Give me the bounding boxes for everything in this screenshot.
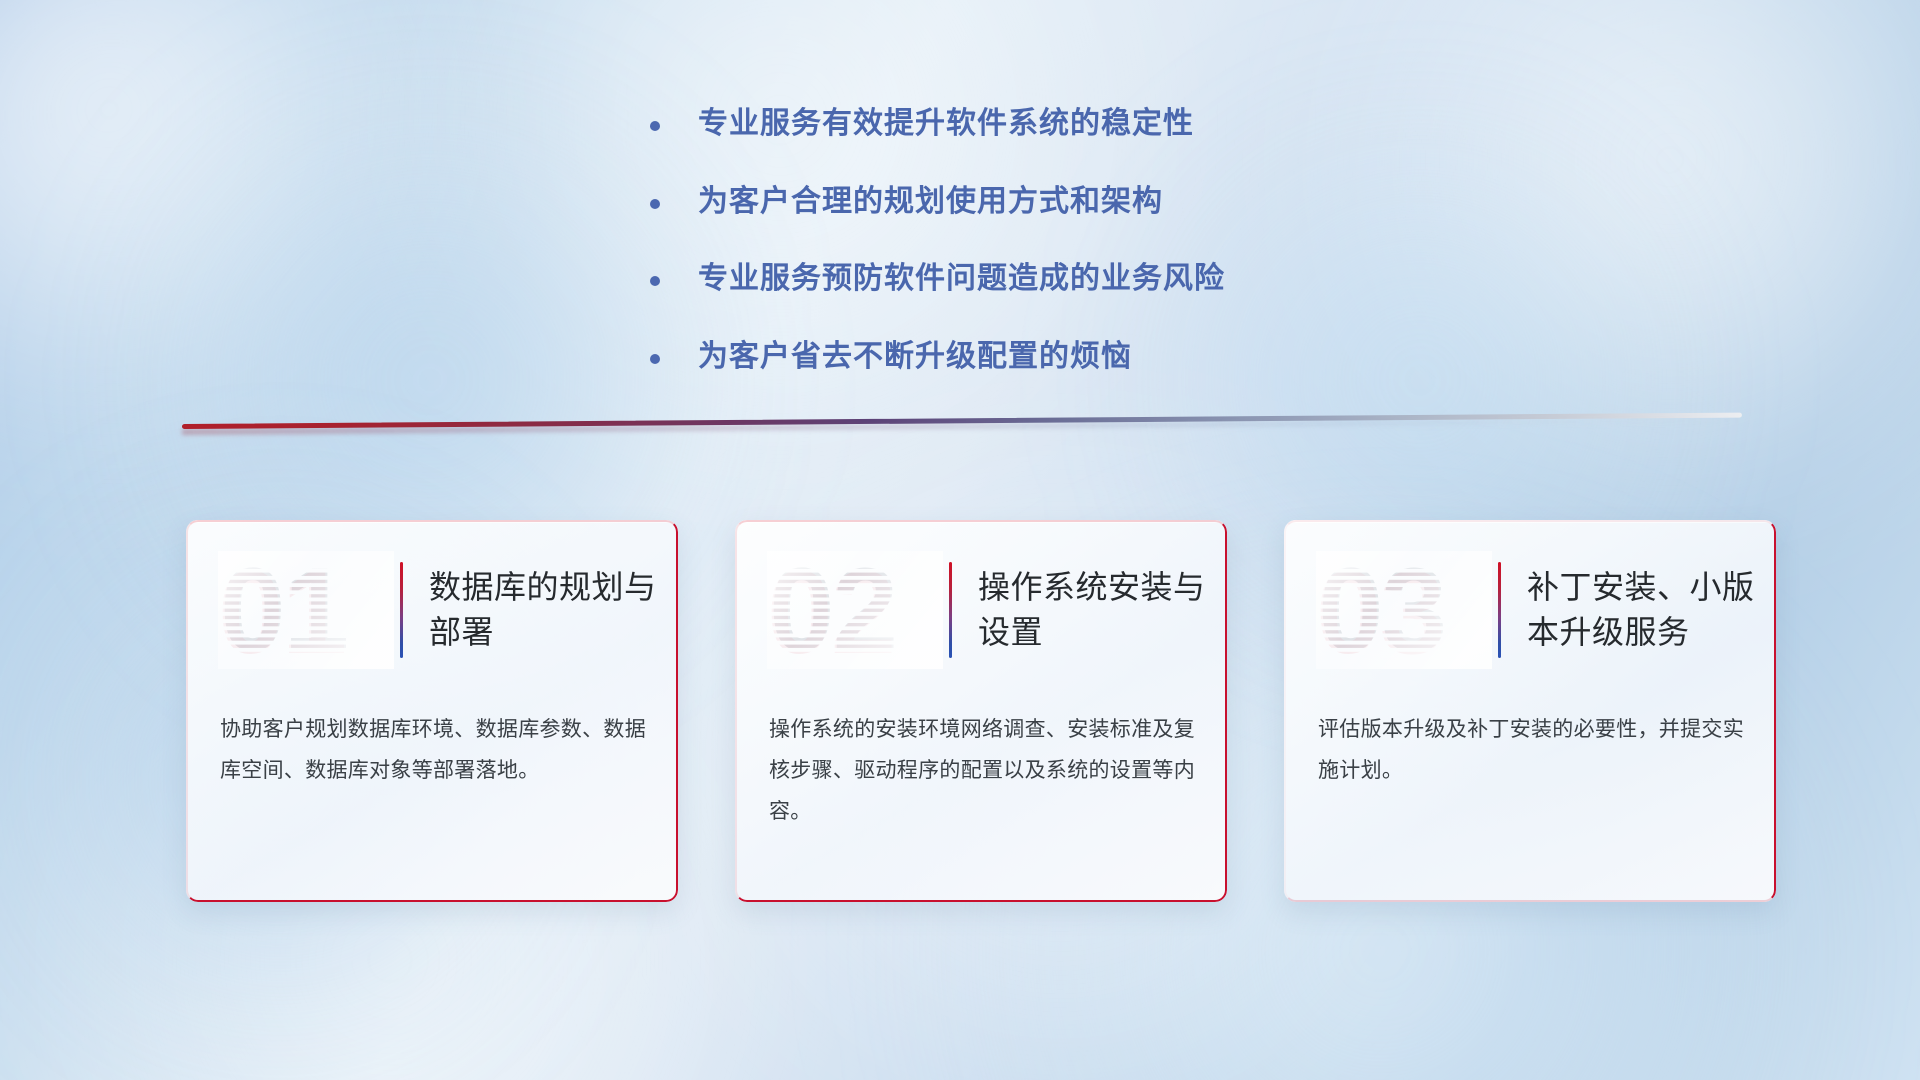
card-header: 01 01 数据库的规划与部署 [186, 544, 678, 676]
list-item: 专业服务预防软件问题造成的业务风险 [650, 260, 1470, 298]
list-item: 为客户合理的规划使用方式和架构 [650, 183, 1470, 221]
card-title: 补丁安装、小版本升级服务 [1527, 565, 1759, 656]
bullet-text: 专业服务有效提升软件系统的稳定性 [698, 105, 1194, 143]
card-number-ghost: 02 02 [767, 551, 943, 669]
bullet-text: 专业服务预防软件问题造成的业务风险 [698, 260, 1225, 298]
card-row: 01 01 数据库的规划与部署 协助客户规划数据库环境、数据库参数、数据库空间、… [186, 520, 1776, 902]
bullet-dot-icon [650, 199, 660, 209]
card-header: 03 03 补丁安装、小版本升级服务 [1284, 544, 1776, 676]
list-item: 专业服务有效提升软件系统的稳定性 [650, 105, 1470, 143]
card-top-highlight [735, 520, 1227, 523]
card-accent-bar [949, 562, 952, 658]
card-body-text: 协助客户规划数据库环境、数据库参数、数据库空间、数据库对象等部署落地。 [220, 710, 648, 792]
bullet-list: 专业服务有效提升软件系统的稳定性 为客户合理的规划使用方式和架构 专业服务预防软… [650, 105, 1470, 375]
card-header: 02 02 操作系统安装与设置 [735, 544, 1227, 676]
bullet-text: 为客户省去不断升级配置的烦恼 [698, 338, 1132, 376]
bullet-dot-icon [650, 276, 660, 286]
bullet-dot-icon [650, 121, 660, 131]
bullet-dot-icon [650, 354, 660, 364]
card-body-text: 评估版本升级及补丁安装的必要性，并提交实施计划。 [1318, 710, 1746, 792]
card-top-highlight [1284, 520, 1776, 523]
service-card-03[interactable]: 03 03 补丁安装、小版本升级服务 评估版本升级及补丁安装的必要性，并提交实施… [1284, 520, 1776, 902]
bullet-text: 为客户合理的规划使用方式和架构 [698, 183, 1163, 221]
card-number-ghost: 03 03 [1316, 551, 1492, 669]
card-accent-bar [1498, 562, 1501, 658]
list-item: 为客户省去不断升级配置的烦恼 [650, 338, 1470, 376]
card-title: 数据库的规划与部署 [429, 565, 661, 656]
card-number-ghost: 01 01 [218, 551, 394, 669]
service-card-01[interactable]: 01 01 数据库的规划与部署 协助客户规划数据库环境、数据库参数、数据库空间、… [186, 520, 678, 902]
card-top-highlight [186, 520, 678, 523]
service-card-02[interactable]: 02 02 操作系统安装与设置 操作系统的安装环境网络调查、安装标准及复核步骤、… [735, 520, 1227, 902]
card-title: 操作系统安装与设置 [978, 565, 1210, 656]
card-accent-bar [400, 562, 403, 658]
card-body-text: 操作系统的安装环境网络调查、安装标准及复核步骤、驱动程序的配置以及系统的设置等内… [769, 710, 1197, 833]
